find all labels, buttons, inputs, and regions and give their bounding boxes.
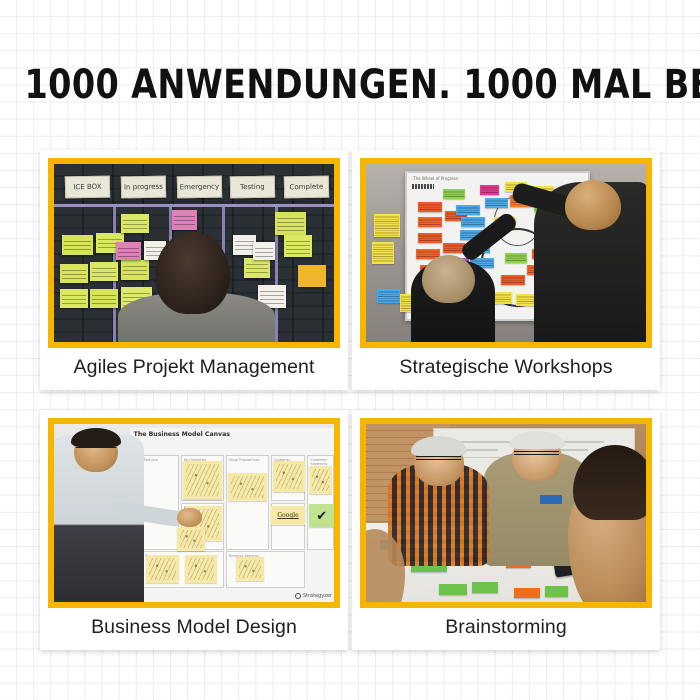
presenter-hand xyxy=(177,508,202,528)
card-brainstorming[interactable]: Brainstorming xyxy=(352,410,660,650)
photo-workshop-whiteboard: The Wheel of Progress xyxy=(366,164,646,342)
person-head xyxy=(155,232,231,314)
person-right-head xyxy=(565,180,621,230)
card-caption: Brainstorming xyxy=(352,608,660,650)
card-caption: Strategische Workshops xyxy=(352,348,660,390)
sticky-note xyxy=(418,233,442,243)
card-agiles-projekt-management[interactable]: ICE BOX In progress Emergency Testing Co… xyxy=(40,150,348,390)
sticky-note xyxy=(472,582,497,593)
sticky-note xyxy=(273,461,306,492)
sticky-note xyxy=(374,214,399,237)
sticky-note xyxy=(183,461,222,499)
poster-page: 1000 ANWENDUNGEN. 1000 MAL BEWÄHRT. ICE … xyxy=(0,0,700,700)
glasses-icon xyxy=(416,456,461,460)
card-image-frame: The Business Model Canvas Key Partners K… xyxy=(48,418,340,608)
canvas-block-label: Value Propositions xyxy=(229,458,260,462)
sticky-note xyxy=(185,555,218,583)
whiteboard-marker-tray xyxy=(412,184,434,189)
kanban-column-header: Complete xyxy=(283,176,328,199)
kanban-column-header: In progress xyxy=(121,176,166,199)
sticky-note xyxy=(461,217,485,227)
strategyzer-logo: Strategyzer xyxy=(295,593,332,599)
sticky-note xyxy=(60,264,88,284)
sticky-note xyxy=(244,258,269,278)
sticky-note xyxy=(90,262,118,282)
kanban-column-header: Emergency xyxy=(177,176,222,199)
sticky-note xyxy=(62,235,93,255)
sticky-note xyxy=(121,260,149,280)
sticky-note xyxy=(253,242,275,260)
card-image-frame xyxy=(360,418,652,608)
name-badge xyxy=(540,495,562,504)
sticky-note xyxy=(236,557,265,581)
logo-text: Strategyzer xyxy=(303,593,332,599)
sticky-note xyxy=(228,473,267,501)
sticky-note xyxy=(418,202,442,212)
sticky-note xyxy=(456,205,480,215)
sticky-note xyxy=(443,189,465,199)
card-grid: ICE BOX In progress Emergency Testing Co… xyxy=(40,150,660,650)
sticky-note xyxy=(177,527,206,551)
sticky-note xyxy=(275,212,306,235)
card-caption: Business Model Design xyxy=(40,608,348,650)
canvas-title: The Business Model Canvas xyxy=(134,431,230,438)
sticky-note xyxy=(418,217,442,227)
sticky-note xyxy=(298,265,326,286)
person-left-head xyxy=(422,255,475,303)
whiteboard-title: The Wheel of Progress xyxy=(413,176,458,181)
card-image-frame: The Wheel of Progress xyxy=(360,158,652,348)
sticky-note xyxy=(501,275,525,285)
sticky-note xyxy=(505,253,527,263)
sticky-note xyxy=(121,214,149,234)
sticky-note xyxy=(480,185,500,195)
sticky-note xyxy=(60,289,88,309)
sticky-note xyxy=(284,235,312,256)
sticky-note-google: Google xyxy=(271,506,306,525)
kanban-column-header: Testing xyxy=(230,176,275,199)
sticky-note xyxy=(146,555,179,583)
sticky-note xyxy=(116,242,141,260)
photo-kanban-board: ICE BOX In progress Emergency Testing Co… xyxy=(54,164,334,342)
card-business-model-design[interactable]: The Business Model Canvas Key Partners K… xyxy=(40,410,348,650)
page-title: 1000 ANWENDUNGEN. 1000 MAL BEWÄHRT. xyxy=(25,62,676,108)
check-mark-note: ✔ xyxy=(309,504,334,527)
canvas-block: Value Propositions xyxy=(226,455,269,549)
sticky-note xyxy=(514,588,539,599)
logo-mark-icon xyxy=(295,593,301,599)
sticky-note xyxy=(439,584,467,595)
photo-brainstorming-table xyxy=(366,424,646,602)
glasses-icon xyxy=(76,444,115,448)
photo-business-model-canvas: The Business Model Canvas Key Partners K… xyxy=(54,424,334,602)
sticky-note xyxy=(309,466,331,494)
sticky-note xyxy=(90,289,118,309)
glasses-icon xyxy=(514,451,559,455)
card-image-frame: ICE BOX In progress Emergency Testing Co… xyxy=(48,158,340,348)
sticky-note xyxy=(377,289,399,303)
card-caption: Agiles Projekt Management xyxy=(40,348,348,390)
kanban-rail xyxy=(54,204,334,207)
sticky-note xyxy=(372,242,394,263)
kanban-column-header: ICE BOX xyxy=(65,176,110,199)
person-left-hair xyxy=(411,436,467,456)
sticky-note xyxy=(545,586,567,597)
sticky-note xyxy=(485,198,509,208)
card-strategische-workshops[interactable]: The Wheel of Progress xyxy=(352,150,660,390)
sticky-note xyxy=(172,210,197,230)
